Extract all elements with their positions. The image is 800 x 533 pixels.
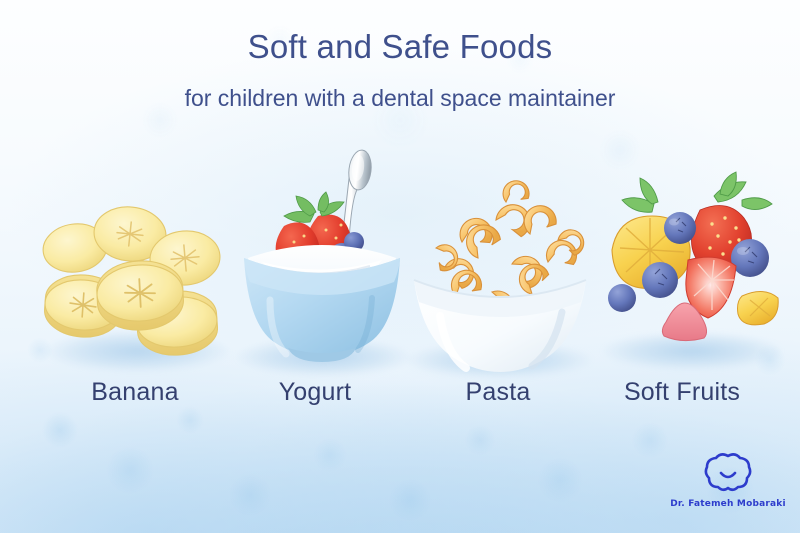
caption-soft-fruits: Soft Fruits (582, 378, 782, 407)
caption-yogurt: Yogurt (215, 378, 415, 407)
brand-signature: Dr. Fatemeh Mobaraki (668, 452, 788, 509)
pasta-bowl-illustration (400, 130, 600, 380)
brand-name: Dr. Fatemeh Mobaraki (668, 499, 788, 509)
food-item-banana (35, 130, 235, 380)
food-item-pasta (400, 130, 600, 380)
yogurt-bowl-illustration (222, 130, 422, 380)
food-item-soft-fruits (592, 130, 792, 380)
soft-fruits-illustration (592, 130, 792, 380)
page-title: Soft and Safe Foods (0, 28, 800, 66)
caption-pasta: Pasta (398, 378, 598, 407)
poster-canvas: Soft and Safe Foods for children with a … (0, 0, 800, 533)
mango-cube-illustration (738, 291, 779, 324)
page-subtitle: for children with a dental space maintai… (0, 85, 800, 112)
tooth-smile-logo-icon (704, 452, 752, 492)
food-item-yogurt (222, 130, 422, 380)
leaf-icon (622, 172, 772, 212)
banana-slices-illustration (35, 130, 235, 380)
caption-banana: Banana (35, 378, 235, 407)
